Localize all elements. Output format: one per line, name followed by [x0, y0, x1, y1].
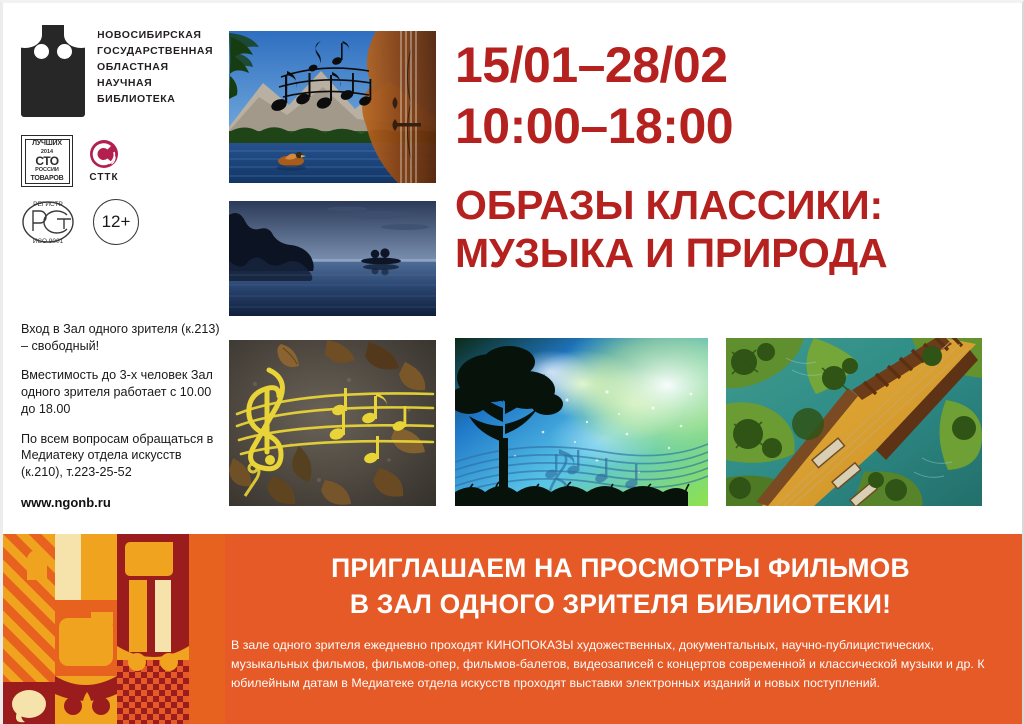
library-name-line-5: БИБЛИОТЕКА	[97, 92, 213, 108]
photo-guitar-lake	[229, 201, 436, 316]
photo-tree-staff	[455, 338, 708, 506]
info-paragraph-1: Вход в Зал одного зрителя (к.213) – своб…	[21, 321, 221, 354]
owl-icon	[21, 25, 85, 117]
sttk-spiral-icon	[89, 139, 119, 169]
event-hours: 10:00–18:00	[455, 96, 985, 157]
photo-chalk-staff	[229, 340, 436, 506]
event-dates: 15/01–28/02	[455, 35, 985, 96]
svg-text:ИСО 9001: ИСО 9001	[33, 238, 64, 245]
badge-row-upper: ЛУЧШИХ 2014 СТО РОССИИ ТОВАРОВ	[21, 135, 221, 187]
sttk-label: СТТК	[89, 172, 119, 183]
badge-row-lower: РЕГИСТР ИСО 9001 12+	[21, 197, 221, 247]
library-name-line-1: НОВОСИБИРСКАЯ	[97, 28, 213, 44]
gost-r-certification-icon: РЕГИСТР ИСО 9001	[21, 197, 77, 247]
hundred-best-top-text: ЛУЧШИХ	[22, 140, 72, 147]
event-title-line-1: ОБРАЗЫ КЛАССИКИ:	[455, 181, 985, 229]
age-rating-badge: 12+	[93, 199, 139, 245]
invitation-banner: ПРИГЛАШАЕМ НА ПРОСМОТРЫ ФИЛЬМОВ В ЗАЛ ОД…	[3, 534, 1022, 724]
info-paragraph-3: По всем вопросам обращаться в Медиатеку …	[21, 431, 221, 481]
banner-text-block: ПРИГЛАШАЕМ НА ПРОСМОТРЫ ФИЛЬМОВ В ЗАЛ ОД…	[231, 534, 1010, 724]
library-name: НОВОСИБИРСКАЯ ГОСУДАРСТВЕННАЯ ОБЛАСТНАЯ …	[97, 25, 213, 108]
banner-heading-line-2: В ЗАЛ ОДНОГО ЗРИТЕЛЯ БИБЛИОТЕКИ!	[231, 586, 1010, 622]
event-headline: 15/01–28/02 10:00–18:00 ОБРАЗЫ КЛАССИКИ:…	[455, 35, 985, 278]
library-name-line-3: ОБЛАСТНАЯ	[97, 60, 213, 76]
photo-lake-violin	[229, 31, 436, 183]
library-logo-row: НОВОСИБИРСКАЯ ГОСУДАРСТВЕННАЯ ОБЛАСТНАЯ …	[21, 25, 221, 117]
event-title-line-2: МУЗЫКА И ПРИРОДА	[455, 229, 985, 277]
library-name-line-2: ГОСУДАРСТВЕННАЯ	[97, 44, 213, 60]
hundred-best-sub-text: РОССИИ	[22, 167, 72, 173]
info-paragraph-2: Вместимость до 3-х человек Зал одного зр…	[21, 367, 221, 417]
library-name-line-4: НАУЧНАЯ	[97, 76, 213, 92]
banner-body-text: В зале одного зрителя ежедневно проходят…	[231, 636, 1010, 693]
sttk-badge: СТТК	[89, 139, 119, 183]
photo-aerial-guitar	[726, 338, 982, 506]
hundred-best-bottom-text: ТОВАРОВ	[22, 175, 72, 182]
hundred-best-goods-icon: ЛУЧШИХ 2014 СТО РОССИИ ТОВАРОВ	[21, 135, 73, 187]
website-link[interactable]: www.ngonb.ru	[21, 494, 221, 511]
certification-badges: ЛУЧШИХ 2014 СТО РОССИИ ТОВАРОВ	[21, 135, 221, 247]
banner-heading-line-1: ПРИГЛАШАЕМ НА ПРОСМОТРЫ ФИЛЬМОВ	[231, 550, 1010, 586]
svg-text:РЕГИСТР: РЕГИСТР	[33, 201, 63, 208]
poster-canvas: НОВОСИБИРСКАЯ ГОСУДАРСТВЕННАЯ ОБЛАСТНАЯ …	[0, 0, 1024, 724]
hundred-best-middle-text: СТО	[22, 154, 72, 168]
abstract-owl-pattern-icon	[3, 534, 225, 724]
visitor-information: Вход в Зал одного зрителя (к.213) – своб…	[21, 321, 221, 511]
organization-identity-block: НОВОСИБИРСКАЯ ГОСУДАРСТВЕННАЯ ОБЛАСТНАЯ …	[21, 25, 221, 257]
